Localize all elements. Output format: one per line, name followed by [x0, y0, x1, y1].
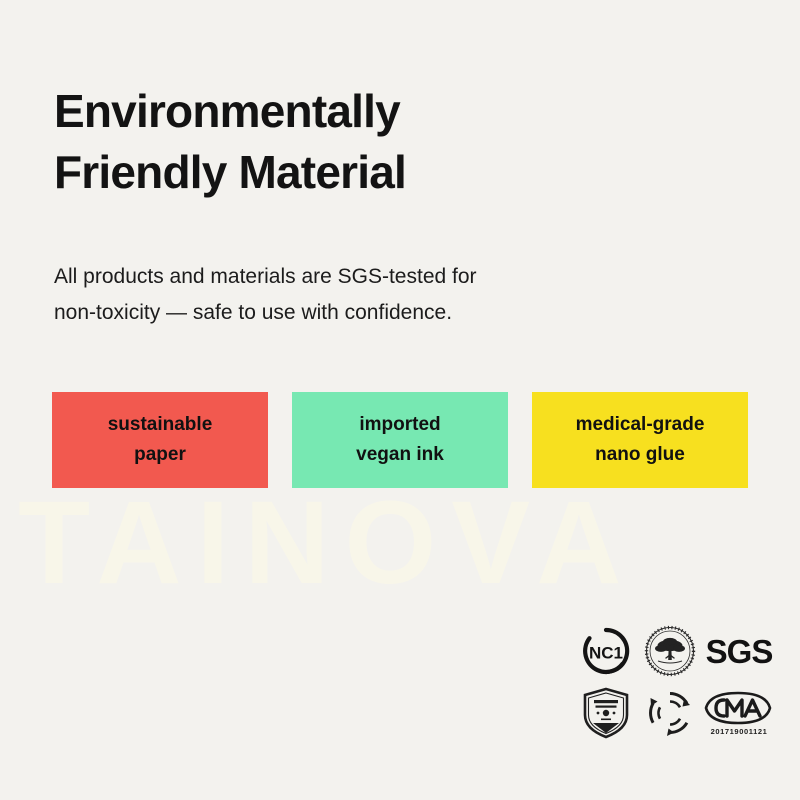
material-badge-line-2: vegan ink	[356, 440, 444, 470]
sgs-icon: SGS	[702, 620, 776, 682]
material-badge-group: sustainable paper imported vegan ink med…	[52, 392, 748, 488]
page-subtitle: All products and materials are SGS-teste…	[54, 259, 674, 331]
brand-watermark: TAINOVA	[18, 484, 788, 602]
page-title-line-1: Environmentally	[54, 85, 400, 137]
svg-text:NC1: NC1	[589, 644, 623, 663]
sgs-wordmark: SGS	[706, 635, 773, 668]
certification-mark-group: NC1 SGS	[574, 620, 784, 744]
poster-canvas: TAINOVA Environmentally Friendly Materia…	[0, 0, 800, 800]
material-badge-vegan-ink: imported vegan ink	[292, 392, 508, 488]
material-badge-line-1: imported	[359, 410, 440, 440]
cma-icon: 201719001121	[702, 682, 776, 744]
page-title: Environmentally Friendly Material	[54, 81, 694, 203]
page-title-line-2: Friendly Material	[54, 142, 694, 203]
shield-crest-icon	[574, 682, 638, 744]
page-subtitle-line-2: non-toxicity — safe to use with confiden…	[54, 295, 674, 331]
cma-certificate-number: 201719001121	[711, 727, 768, 736]
material-badge-line-1: sustainable	[108, 410, 213, 440]
material-badge-sustainable-paper: sustainable paper	[52, 392, 268, 488]
material-badge-line-1: medical-grade	[576, 410, 705, 440]
recycle-icon	[638, 682, 702, 744]
forest-seal-icon	[638, 620, 702, 682]
nc1-icon: NC1	[574, 620, 638, 682]
material-badge-line-2: paper	[134, 440, 186, 470]
page-subtitle-line-1: All products and materials are SGS-teste…	[54, 265, 477, 288]
material-badge-nano-glue: medical-grade nano glue	[532, 392, 748, 488]
material-badge-line-2: nano glue	[595, 440, 685, 470]
